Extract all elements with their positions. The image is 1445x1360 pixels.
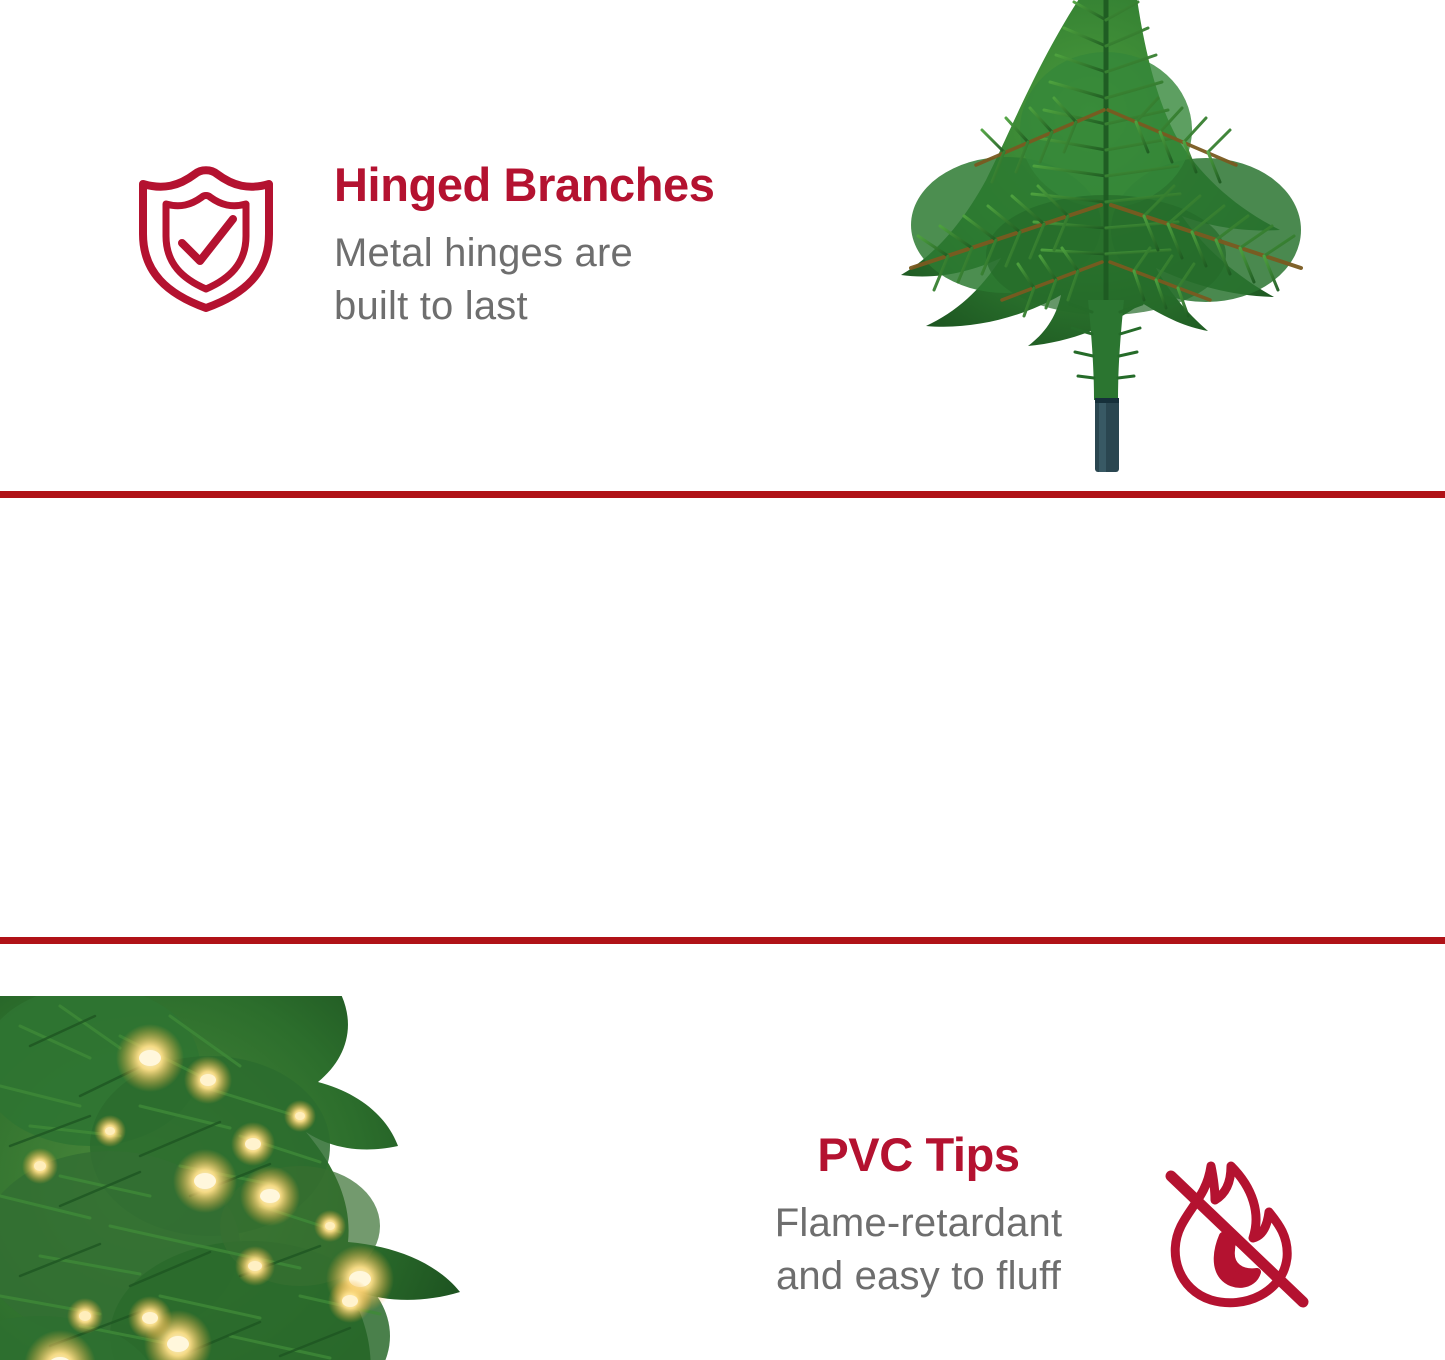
green-branch-closeup-photo [806,0,1445,491]
hinged-branches-text-block: Hinged Branches Metal hinges are built t… [334,160,715,333]
feature-panel-pvc-tips: PVC Tips Flame-retardant and easy to flu… [0,498,1445,937]
shield-check-icon [133,160,279,312]
hinged-branches-subtext: Metal hinges are built to last [334,227,715,333]
feature-panel-sturdy-base: Sturdy Base A reliable metal stand for y… [0,944,1445,1360]
divider-top [0,491,1445,498]
hinged-branches-subtext-line-2: built to last [334,280,715,333]
feature-panel-hinged-branches: Hinged Branches Metal hinges are built t… [0,0,1445,491]
product-feature-infographic: Hinged Branches Metal hinges are built t… [0,0,1445,1360]
branch-photo-svg [806,0,1445,491]
hinged-branches-subtext-line-1: Metal hinges are [334,227,715,280]
divider-bottom [0,937,1445,944]
hinged-branches-heading: Hinged Branches [334,160,715,209]
